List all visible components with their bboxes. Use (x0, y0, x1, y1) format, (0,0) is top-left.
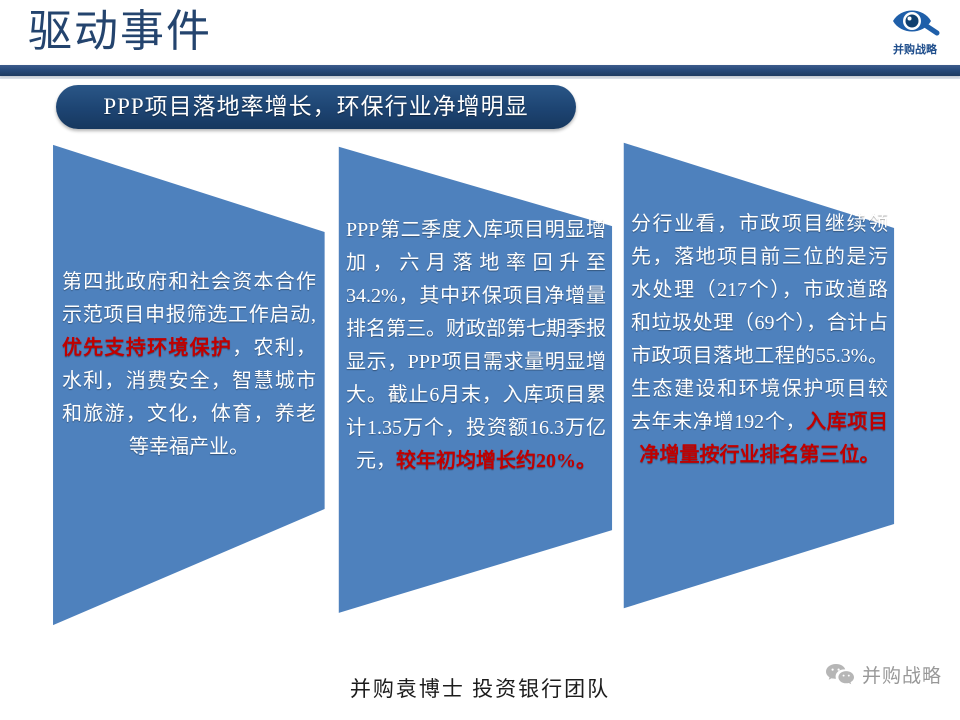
footer-credit: 并购袁博士 投资银行团队 (0, 676, 960, 702)
body-text: 分行业看，市政项目继续领先，落地项目前三位的是污水处理（217个），市政道路和垃… (631, 213, 888, 433)
panel-1-text: 第四批政府和社会资本合作示范项目申报筛选工作启动,优先支持环境保护，农利，水利，… (50, 266, 326, 464)
panel-3-text: 分行业看，市政项目继续领先，落地项目前三位的是污水处理（217个），市政道路和垃… (621, 208, 896, 472)
body-text: 第四批政府和社会资本合作示范项目申报筛选工作启动, (62, 271, 316, 326)
brand-logo: 并购战略 (876, 2, 954, 64)
content-panel-2: PPP第二季度入库项目明显增加，六月落地率回升至34.2%，其中环保项目净增量排… (336, 142, 614, 620)
panel-2-text: PPP第二季度入库项目明显增加，六月落地率回升至34.2%，其中环保项目净增量排… (336, 214, 614, 478)
highlighted-text: 较年初均增长约20%。 (396, 450, 596, 472)
wechat-icon (825, 662, 855, 691)
highlighted-text: 优先支持环境保护 (62, 337, 232, 359)
content-panel-3: 分行业看，市政项目继续领先，落地项目前三位的是污水处理（217个），市政道路和垃… (621, 138, 896, 614)
wechat-watermark: 并购战略 (825, 662, 942, 691)
eye-magnifier-icon (876, 3, 954, 44)
wechat-watermark-label: 并购战略 (862, 666, 942, 688)
brand-logo-label: 并购战略 (876, 44, 954, 56)
slide-canvas: 驱动事件 并购战略 PPP项目落地率增长，环保行业净增明显 第四批政府和社会资本… (0, 0, 960, 720)
content-panel-1: 第四批政府和社会资本合作示范项目申报筛选工作启动,优先支持环境保护，农利，水利，… (50, 140, 326, 632)
content-panels: 第四批政府和社会资本合作示范项目申报筛选工作启动,优先支持环境保护，农利，水利，… (0, 0, 960, 720)
body-text: PPP第二季度入库项目明显增加，六月落地率回升至34.2%，其中环保项目净增量排… (346, 219, 606, 472)
